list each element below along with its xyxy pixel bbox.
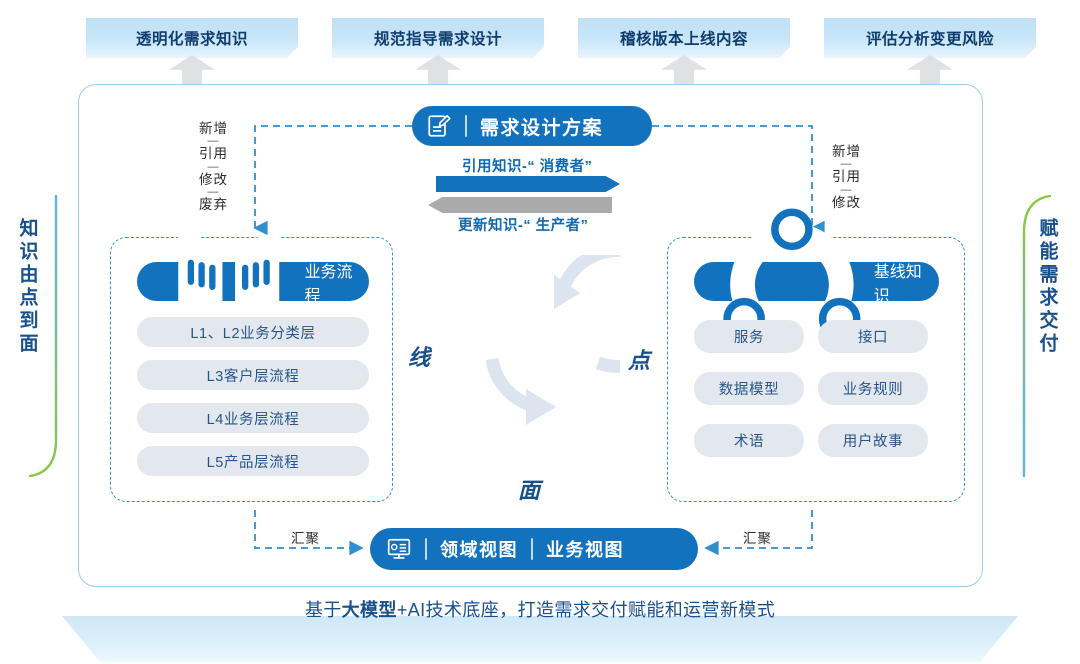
baseline-chip-label-5: 用户故事 [843, 430, 903, 451]
top-outcome-label-2: 规范指导需求设计 [374, 27, 502, 49]
baseline-chip-0[interactable]: 服务 [694, 320, 804, 353]
aggregate-label-right: 汇聚 [743, 527, 772, 547]
cycle-arrow-icon [470, 255, 620, 455]
bottom-banner-shape [62, 616, 1018, 662]
change-label-left-0: 新增 [199, 122, 228, 136]
consume-flow-arrow-icon [436, 176, 620, 192]
baseline-chip-4[interactable]: 术语 [694, 424, 804, 457]
bottom-caption-prefix: 基于 [305, 600, 342, 620]
cycle-label-line: 线 [408, 340, 430, 372]
business-process-header[interactable]: 业务流程 [137, 262, 369, 301]
change-label-left-2: 修改 [199, 173, 228, 187]
baseline-knowledge-title: 基线知识 [874, 258, 923, 306]
change-label-left-1: 引用 [199, 147, 228, 161]
baseline-chip-label-4: 术语 [734, 430, 764, 451]
change-divider: — [832, 185, 861, 196]
produce-flow-arrow-icon [428, 197, 612, 213]
up-arrow-icon-3 [661, 55, 707, 87]
diagram-canvas: 透明化需求知识 规范指导需求设计 稽核版本上线内容 评估分析变更风险 [0, 0, 1080, 664]
business-process-panel: 业务流程 L1、L2业务分类层 L3客户层流程 L4业务层流程 L5产品层流程 [110, 237, 393, 502]
baseline-knowledge-panel: 基线知识 服务 接口 数据模型 业务规则 术语 用户故事 [667, 237, 965, 502]
top-outcome-label-3: 稽核版本上线内容 [620, 27, 748, 49]
top-outcome-label-4: 评估分析变更风险 [866, 27, 994, 49]
baseline-chip-label-3: 业务规则 [843, 378, 903, 399]
baseline-chip-label-2: 数据模型 [719, 378, 779, 399]
process-chip-label-0: L1、L2业务分类层 [190, 322, 315, 343]
aggregate-label-left: 汇聚 [291, 527, 320, 547]
presentation-board-icon [386, 536, 412, 562]
right-rail-label: 赋能需求交付 [1036, 218, 1057, 356]
pill-divider [425, 538, 427, 560]
cycle-label-plane: 面 [518, 473, 540, 505]
cycle-label-point: 点 [628, 343, 650, 375]
top-outcome-box-4[interactable]: 评估分析变更风险 [824, 18, 1036, 58]
baseline-chip-1[interactable]: 接口 [818, 320, 928, 353]
up-arrow-icon-4 [907, 55, 953, 87]
top-outcome-label-1: 透明化需求知识 [136, 27, 248, 49]
produce-flow-label: 更新知识-“ 生产者” [458, 214, 588, 235]
bottom-caption-suffix: +AI技术底座，打造需求交付赋能和运营新模式 [397, 600, 775, 620]
process-chip-0[interactable]: L1、L2业务分类层 [137, 317, 369, 347]
pill-divider [531, 538, 533, 560]
process-chip-label-1: L3客户层流程 [207, 365, 300, 386]
document-pencil-icon [426, 113, 452, 139]
consume-flow-label: 引用知识-“ 消费者” [462, 155, 592, 176]
process-chip-label-3: L5产品层流程 [207, 451, 300, 472]
plan-pill-title: 需求设计方案 [480, 113, 603, 140]
top-outcome-box-2[interactable]: 规范指导需求设计 [332, 18, 544, 58]
baseline-chip-label-1: 接口 [858, 326, 888, 347]
change-divider: — [199, 162, 228, 173]
pill-divider [465, 115, 467, 137]
top-outcome-box-1[interactable]: 透明化需求知识 [86, 18, 298, 58]
left-rail: 知识由点到面 [4, 190, 74, 480]
baseline-chip-2[interactable]: 数据模型 [694, 372, 804, 405]
bottom-caption: 基于大模型+AI技术底座，打造需求交付赋能和运营新模式 [0, 596, 1080, 622]
right-rail: 赋能需求交付 [1006, 190, 1076, 480]
process-chip-1[interactable]: L3客户层流程 [137, 360, 369, 390]
baseline-chip-5[interactable]: 用户故事 [818, 424, 928, 457]
baseline-chip-label-0: 服务 [734, 326, 764, 347]
process-chip-3[interactable]: L5产品层流程 [137, 446, 369, 476]
view-pill-title-2: 业务视图 [546, 536, 624, 562]
baseline-knowledge-header[interactable]: 基线知识 [694, 262, 939, 301]
business-process-title: 业务流程 [305, 258, 354, 306]
bottom-caption-strong: 大模型 [342, 600, 397, 620]
left-rail-label: 知识由点到面 [16, 218, 37, 356]
change-label-right-0: 新增 [832, 145, 861, 159]
process-chip-2[interactable]: L4业务层流程 [137, 403, 369, 433]
change-label-right-1: 引用 [832, 170, 861, 184]
up-arrow-icon-1 [169, 55, 215, 87]
view-pill-title-1: 领域视图 [440, 536, 518, 562]
up-arrow-icon-2 [415, 55, 461, 87]
top-outcome-box-3[interactable]: 稽核版本上线内容 [578, 18, 790, 58]
baseline-chip-3[interactable]: 业务规则 [818, 372, 928, 405]
requirement-design-plan-pill[interactable]: 需求设计方案 [412, 106, 652, 146]
view-pill[interactable]: 领域视图 业务视图 [370, 528, 698, 570]
change-labels-left: 新增 — 引用 — 修改 — 废弃 [199, 122, 228, 212]
process-chip-label-2: L4业务层流程 [207, 408, 300, 429]
